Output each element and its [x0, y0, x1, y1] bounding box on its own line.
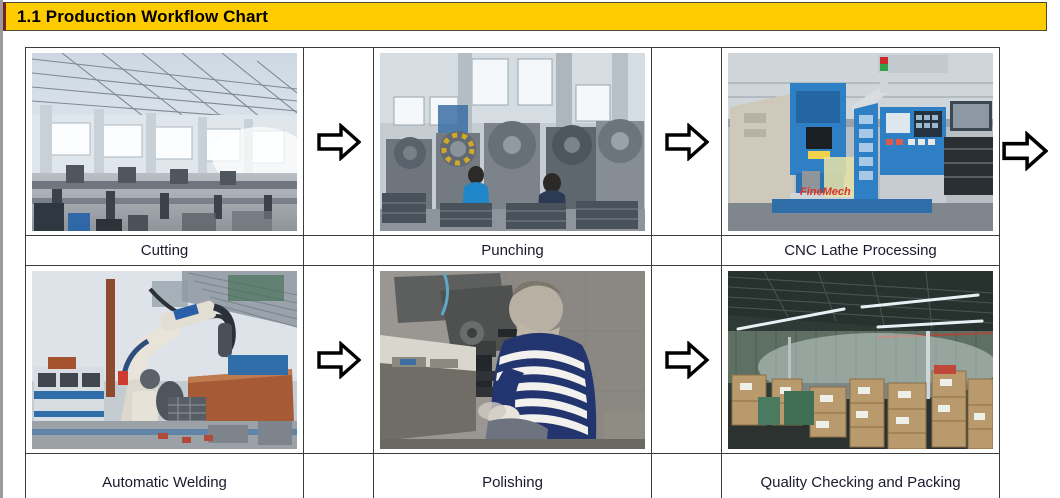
step-label-cell-welding: Automatic Welding	[26, 454, 304, 498]
arrow-cell-3	[304, 266, 374, 454]
photo-cutting	[32, 53, 297, 231]
photo-automatic-welding	[32, 271, 297, 449]
photo-polishing	[380, 271, 645, 449]
step-image-cell-cutting	[26, 48, 304, 236]
step-label-cell-quality: Quality Checking and Packing	[722, 454, 1000, 498]
arrow-cell-2-spacer	[652, 236, 722, 266]
right-block-arrow-icon	[317, 341, 361, 379]
step-label-cell-punching: Punching	[374, 236, 652, 266]
step-label-automatic-welding: Automatic Welding	[26, 473, 303, 492]
right-block-arrow-icon	[317, 123, 361, 161]
arrow-cell-1	[304, 48, 374, 236]
step-label-cutting: Cutting	[26, 241, 303, 260]
step-label-cell-polishing: Polishing	[374, 454, 652, 498]
step-image-cell-polishing	[374, 266, 652, 454]
step-label-polishing: Polishing	[374, 473, 651, 492]
step-image-cell-cnc: FineMech	[722, 48, 1000, 236]
table-row-labels-2: Automatic Welding Polishing Quality Chec…	[26, 454, 1000, 498]
photo-punching	[380, 53, 645, 231]
table-row-images-2	[26, 266, 1000, 454]
step-label-punching: Punching	[374, 241, 651, 260]
arrow-cell-4	[652, 266, 722, 454]
production-workflow-table: FineMech Cutting Punching CNC Lathe Proc…	[25, 47, 1000, 498]
section-header: 1.1 Production Workflow Chart	[3, 2, 1047, 31]
step-image-cell-welding	[26, 266, 304, 454]
arrow-cell-1-spacer	[304, 236, 374, 266]
svg-text:FineMech: FineMech	[800, 186, 851, 198]
page-left-edge	[0, 0, 3, 498]
table-row-labels-1: Cutting Punching CNC Lathe Processing	[26, 236, 1000, 266]
step-label-quality-checking-and-packing: Quality Checking and Packing	[722, 473, 999, 492]
right-block-arrow-icon	[1002, 131, 1046, 169]
step-label-cell-cnc: CNC Lathe Processing	[722, 236, 1000, 266]
arrow-cell-3-spacer	[304, 454, 374, 498]
arrow-cell-4-spacer	[652, 454, 722, 498]
photo-quality-checking-packing	[728, 271, 993, 449]
step-label-cnc-lathe-processing: CNC Lathe Processing	[722, 241, 999, 260]
table-row-images-1: FineMech	[26, 48, 1000, 236]
step-image-cell-punching	[374, 48, 652, 236]
step-image-cell-quality	[722, 266, 1000, 454]
page-root: 1.1 Production Workflow Chart	[0, 0, 1060, 498]
section-header-title: 1.1 Production Workflow Chart	[6, 8, 268, 25]
right-block-arrow-icon	[665, 341, 709, 379]
photo-cnc-lathe: FineMech	[728, 53, 993, 231]
arrow-cell-trailing	[1002, 131, 1048, 171]
arrow-cell-2	[652, 48, 722, 236]
right-block-arrow-icon	[665, 123, 709, 161]
step-label-cell-cutting: Cutting	[26, 236, 304, 266]
